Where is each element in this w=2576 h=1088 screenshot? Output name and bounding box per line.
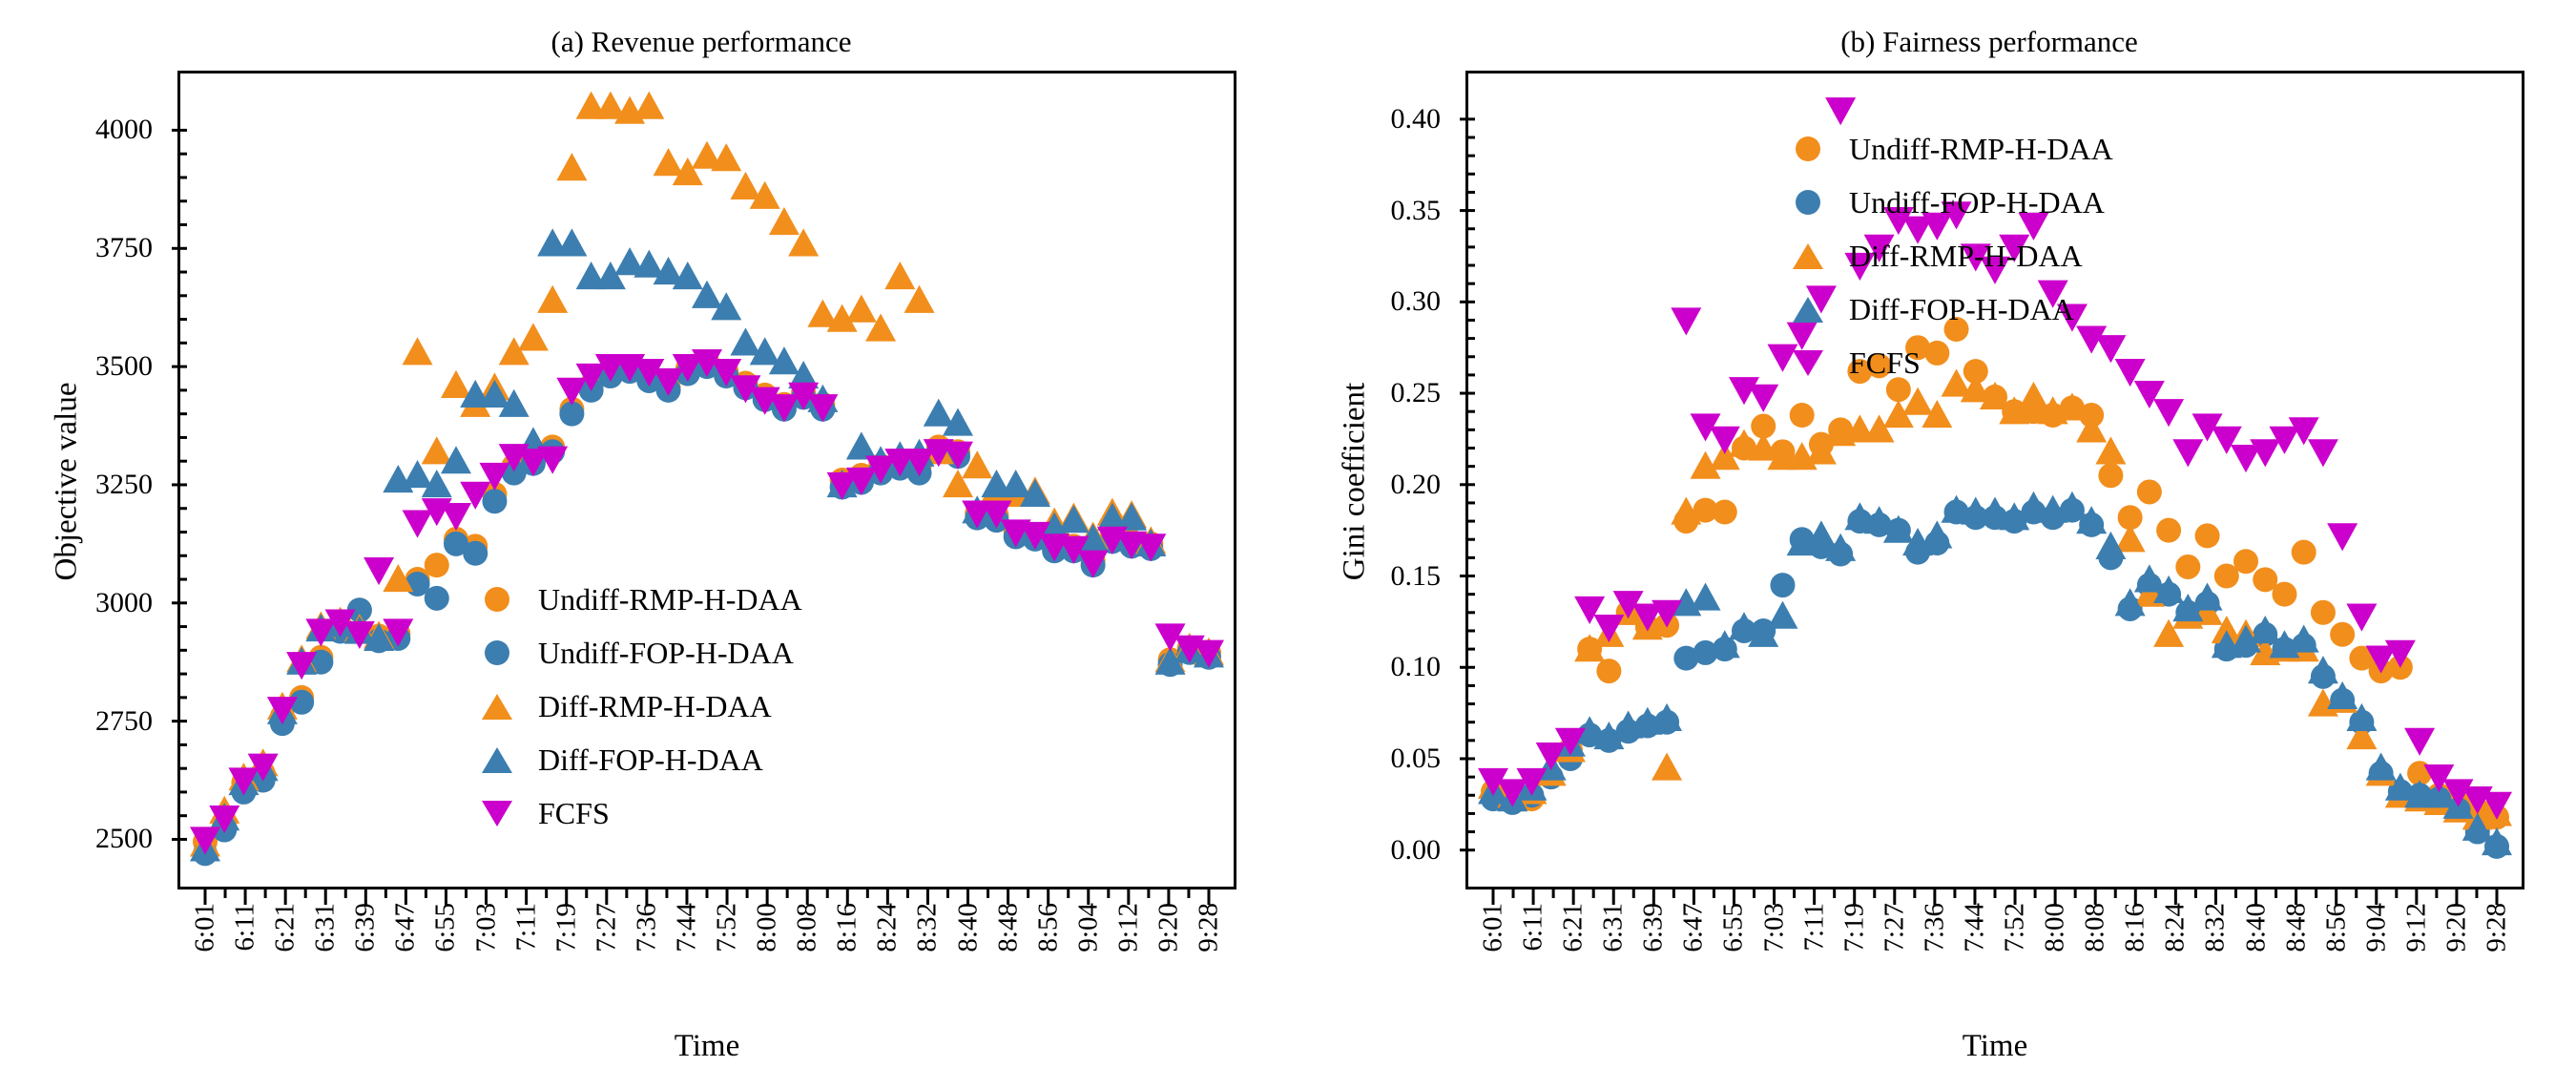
data-point [2330,622,2355,647]
data-point [884,262,915,289]
x-tick-label: 7:36 [1919,903,1950,952]
data-point [2233,549,2258,574]
x-tick-label: 8:16 [832,903,863,952]
legend-item[interactable]: FCFS [467,786,802,840]
x-tick-label: 8:08 [2080,903,2111,952]
x-tick-label: 6:21 [270,903,301,952]
data-point [846,295,877,323]
data-point [2311,600,2336,625]
x-tick-label: 8:56 [1032,903,1064,952]
data-point [1058,505,1089,533]
data-point [730,327,760,355]
legend-marker-triangle-up-icon [467,747,527,773]
y-tick-label: 0.30 [1391,285,1457,318]
x-tick-label: 8:24 [872,903,904,952]
data-point [2156,518,2181,543]
x-tick-label: 9:12 [2400,903,2432,952]
legend-label: Diff-FOP-H-DAA [527,743,763,778]
y-tick-label: 0.25 [1391,377,1457,409]
y-tick-label: 0.20 [1391,469,1457,501]
legend-marker-triangle-down-icon [467,801,527,826]
y-tick-label: 2500 [95,823,168,855]
x-tick-label: 9:28 [1194,903,1225,952]
data-point [654,148,684,176]
legend-item[interactable]: Undiff-FOP-H-DAA [1778,176,2113,229]
data-point [425,586,449,611]
data-point [1770,573,1795,597]
x-tick-label: 7:52 [712,903,743,952]
x-axis-label-revenue: Time [177,1029,1236,1064]
legend-marker-triangle-up-icon [1778,297,1838,323]
x-tick-label: 6:11 [1518,903,1549,951]
legend-marker-circle-icon [1778,190,1838,215]
data-point [2098,463,2123,488]
x-axis-ticklabels-revenue: 6:016:116:216:316:396:476:557:037:117:19… [177,903,1236,1046]
x-tick-label: 8:56 [2320,903,2352,952]
legend-fairness: Undiff-RMP-H-DAAUndiff-FOP-H-DAADiff-RMP… [1778,122,2113,389]
x-tick-label: 6:21 [1558,903,1589,952]
data-point [846,431,877,459]
x-tick-label: 8:16 [2120,903,2151,952]
y-tick-label: 2750 [95,705,168,738]
series-undiff-fop-h-daa [1481,498,2509,859]
legend-item[interactable]: FCFS [1778,336,2113,389]
legend-item[interactable]: Diff-RMP-H-DAA [1778,229,2113,282]
x-tick-label: 7:11 [510,903,542,951]
legend-label: Undiff-FOP-H-DAA [1838,185,2105,220]
y-tick-label: 0.00 [1391,834,1457,867]
x-tick-label: 6:47 [390,903,422,952]
x-tick-label: 8:48 [2280,903,2312,952]
legend-marker-circle-icon [1778,136,1838,161]
legend-marker-circle-icon [467,640,527,665]
y-axis-tickmarks-fairness [1456,71,1475,889]
x-tick-label: 7:44 [1959,903,1990,952]
panel-a-title: (a) Revenue performance [0,25,1288,59]
data-point [422,436,452,464]
legend-label: Diff-RMP-H-DAA [527,689,772,724]
data-point [769,207,800,235]
x-tick-label: 6:01 [190,903,221,952]
x-tick-label: 8:08 [792,903,823,952]
y-tick-label: 4000 [95,114,168,146]
x-tick-label: 7:27 [1879,903,1910,952]
x-tick-label: 9:04 [2360,903,2392,952]
data-point [2404,728,2435,756]
x-tick-label: 7:27 [591,903,622,952]
data-point [2289,625,2319,653]
data-point [924,399,954,427]
x-tick-label: 7:52 [2000,903,2031,952]
legend-label: FCFS [1838,345,1921,381]
x-tick-label: 6:01 [1478,903,1509,952]
data-point [556,153,587,180]
data-point [2175,554,2200,579]
data-point [2192,582,2223,610]
y-axis-tickmarks-revenue [168,71,187,889]
legend-label: Undiff-FOP-H-DAA [527,636,794,671]
legend-item[interactable]: Undiff-FOP-H-DAA [467,626,802,680]
legend-label: FCFS [527,796,610,831]
y-tick-label: 3000 [95,587,168,619]
data-point [1652,753,1682,781]
x-tick-label: 8:48 [992,903,1024,952]
x-tick-label: 6:55 [430,903,462,952]
x-axis-ticklabels-fairness: 6:016:116:216:316:396:476:557:037:117:19… [1465,903,2524,1046]
data-point [518,323,549,350]
data-point [425,553,449,577]
x-tick-label: 8:40 [2240,903,2272,952]
x-tick-label: 8:24 [2160,903,2192,952]
data-point [1790,403,1815,428]
legend-label: Diff-RMP-H-DAA [1838,239,2083,274]
y-tick-label: 0.10 [1391,651,1457,683]
x-tick-label: 6:55 [1718,903,1750,952]
x-tick-label: 6:11 [230,903,261,951]
data-point [634,92,664,119]
data-point [904,285,935,313]
y-tick-label: 0.35 [1391,195,1457,227]
data-point [463,541,488,566]
legend-revenue: Undiff-RMP-H-DAAUndiff-FOP-H-DAADiff-RMP… [467,573,802,840]
legend-item[interactable]: Diff-FOP-H-DAA [1778,282,2113,336]
y-tick-label: 3750 [95,232,168,264]
x-tick-label: 6:31 [1598,903,1630,952]
data-point [730,172,760,199]
y-axis-label-fairness: Gini coefficient [1338,358,1373,606]
x-tick-label: 6:39 [350,903,382,952]
data-point [2292,540,2316,565]
data-point [2366,753,2397,781]
x-tick-label: 7:36 [631,903,662,952]
data-point [2137,479,2162,504]
data-point [556,228,587,256]
x-tick-label: 9:20 [1153,903,1184,952]
y-tick-label: 0.15 [1391,560,1457,593]
x-tick-label: 7:11 [1798,903,1830,951]
data-point [1825,97,1856,125]
data-point [1713,500,1737,525]
legend-marker-triangle-up-icon [1778,243,1838,269]
data-point [1001,470,1031,497]
legend-item[interactable]: Diff-FOP-H-DAA [467,733,802,786]
legend-marker-triangle-up-icon [467,694,527,720]
panel-a-title-text: (a) Revenue performance [437,25,852,59]
data-point [2327,523,2358,551]
figure-root: (a) Revenue performance 2500275030003250… [0,0,2576,1088]
data-point [403,337,433,365]
panel-b-title-text: (b) Fairness performance [1726,25,2138,59]
data-point [403,510,433,537]
panel-b-title: (b) Fairness performance [1288,25,2576,59]
y-tick-label: 0.40 [1391,103,1457,136]
legend-item[interactable]: Undiff-RMP-H-DAA [467,573,802,626]
x-tick-label: 9:20 [2441,903,2472,952]
data-point [2172,439,2203,467]
legend-item[interactable]: Diff-RMP-H-DAA [467,680,802,733]
legend-marker-triangle-down-icon [1778,350,1838,376]
data-point [1748,385,1778,412]
x-tick-label: 7:19 [551,903,582,952]
x-tick-label: 9:04 [1072,903,1104,952]
data-point [1596,659,1621,683]
legend-marker-circle-icon [467,587,527,612]
series-diff-fop-h-daa [1478,492,2512,855]
x-tick-label: 7:03 [1758,903,1790,952]
data-point [1671,307,1701,335]
x-tick-label: 6:39 [1638,903,1670,952]
panel-fairness: (b) Fairness performance 0.000.050.100.1… [1288,0,2576,1088]
x-tick-label: 7:19 [1839,903,1870,952]
x-tick-label: 8:32 [912,903,944,952]
data-point [1767,601,1797,629]
y-tick-label: 3250 [95,469,168,501]
data-point [403,460,433,488]
legend-label: Undiff-RMP-H-DAA [1838,132,2113,167]
x-tick-label: 8:00 [2040,903,2071,952]
data-point [441,503,471,531]
x-axis-label-fairness: Time [1465,1029,2524,1064]
x-tick-label: 8:40 [952,903,984,952]
x-tick-label: 8:00 [752,903,783,952]
data-point [2308,439,2338,467]
x-tick-label: 8:32 [2200,903,2232,952]
legend-label: Diff-FOP-H-DAA [1838,292,2074,327]
x-tick-label: 9:28 [2482,903,2513,952]
y-axis-label-revenue: Objective value [50,358,85,606]
data-point [537,285,568,313]
data-point [2134,564,2165,592]
x-tick-label: 6:47 [1678,903,1710,952]
y-tick-label: 3500 [95,350,168,383]
panel-revenue: (a) Revenue performance 2500275030003250… [0,0,1288,1088]
data-point [1593,615,1624,642]
x-tick-label: 7:03 [470,903,502,952]
data-point [2272,582,2296,607]
data-point [441,370,471,398]
data-point [1922,520,1952,548]
x-tick-label: 9:12 [1112,903,1144,952]
y-tick-label: 0.05 [1391,743,1457,775]
data-point [482,489,507,513]
x-tick-label: 6:31 [310,903,342,952]
legend-item[interactable]: Undiff-RMP-H-DAA [1778,122,2113,176]
data-point [2195,523,2220,548]
legend-label: Undiff-RMP-H-DAA [527,582,802,617]
x-tick-label: 7:44 [671,903,702,952]
data-point [2153,399,2184,427]
data-point [1691,582,1721,610]
